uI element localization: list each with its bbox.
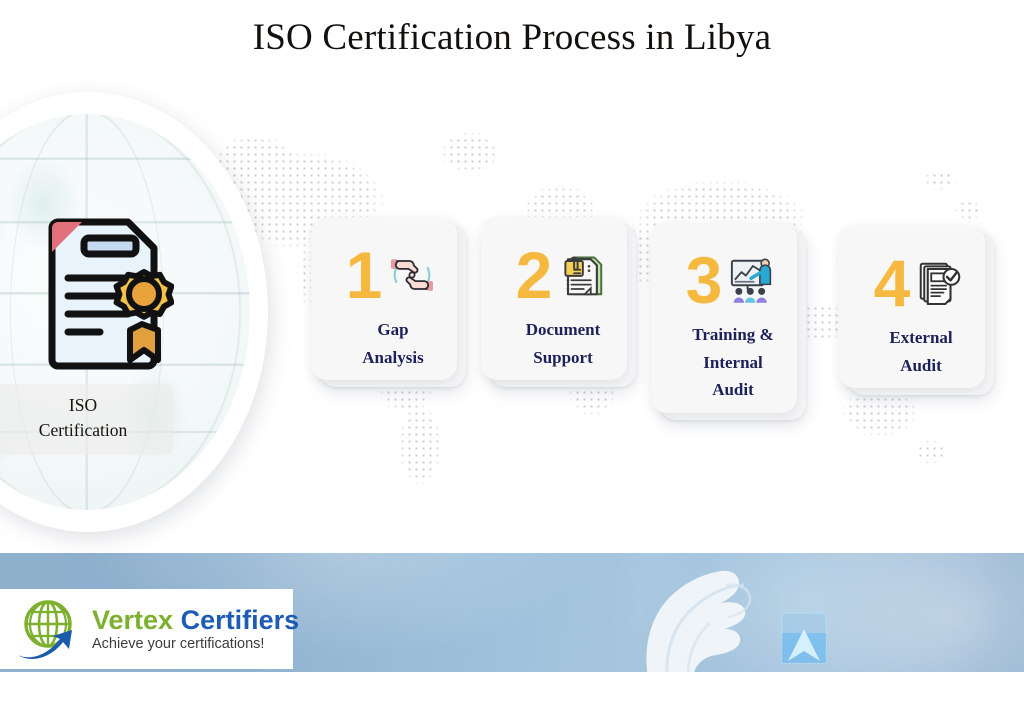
step-card-3[interactable]: 3 T — [660, 229, 806, 420]
step-4-label-line1: External — [889, 328, 952, 347]
glow-arrow-icon — [778, 611, 836, 672]
step-card-2[interactable]: 2 Document — [490, 224, 636, 387]
brand-name-first: Vertex — [92, 605, 173, 635]
step-2-label-line1: Document — [526, 320, 601, 339]
hero-badge-label-line1: ISO — [69, 395, 97, 415]
step-card-1-label: Gap Analysis — [320, 316, 466, 387]
hero-badge: ISO Certification — [0, 92, 268, 532]
globe-arrow-logo-icon — [14, 597, 88, 661]
step-card-4[interactable]: 4 External Audit — [848, 232, 994, 395]
brand-logo[interactable]: Vertex Certifiers Achieve your certifica… — [0, 589, 293, 669]
step-2-label-line2: Support — [533, 348, 593, 367]
step-card-2-top: 2 — [490, 224, 636, 316]
step-card-1[interactable]: 1 Gap Analysis — [320, 224, 466, 387]
brand-text: Vertex Certifiers Achieve your certifica… — [92, 606, 299, 652]
step-number-4: 4 — [874, 253, 911, 314]
infographic-canvas: ISO Certification Process in Libya ISO C… — [0, 0, 1024, 724]
step-1-label-line2: Analysis — [362, 348, 423, 367]
step-number-1: 1 — [346, 245, 383, 306]
step-3-label-line3: Audit — [712, 380, 754, 399]
step-card-3-label: Training & Internal Audit — [660, 321, 806, 420]
step-number-3: 3 — [686, 250, 723, 311]
step-3-label-line1: Training & — [692, 325, 773, 344]
certificate-document-icon — [38, 212, 174, 372]
step-3-label-line2: Internal — [703, 353, 763, 372]
brand-name: Vertex Certifiers — [92, 606, 299, 634]
page-title: ISO Certification Process in Libya — [0, 16, 1024, 59]
hero-badge-label: ISO Certification — [0, 384, 174, 455]
documents-check-icon — [912, 255, 968, 311]
brand-tagline: Achieve your certifications! — [92, 636, 299, 652]
handshake-teamwork-icon — [384, 247, 440, 303]
step-4-label-line2: Audit — [900, 356, 942, 375]
brand-name-second: Certifiers — [181, 605, 300, 635]
step-card-2-label: Document Support — [490, 316, 636, 387]
step-card-4-top: 4 — [848, 232, 994, 324]
step-number-2: 2 — [516, 245, 553, 306]
hero-badge-label-line2: Certification — [39, 420, 127, 440]
step-card-1-top: 1 — [320, 224, 466, 316]
step-1-label-line1: Gap — [377, 320, 408, 339]
training-presentation-icon — [724, 252, 780, 308]
step-card-3-top: 3 — [660, 229, 806, 321]
step-card-4-label: External Audit — [848, 324, 994, 395]
documents-clipboard-icon — [554, 247, 610, 303]
